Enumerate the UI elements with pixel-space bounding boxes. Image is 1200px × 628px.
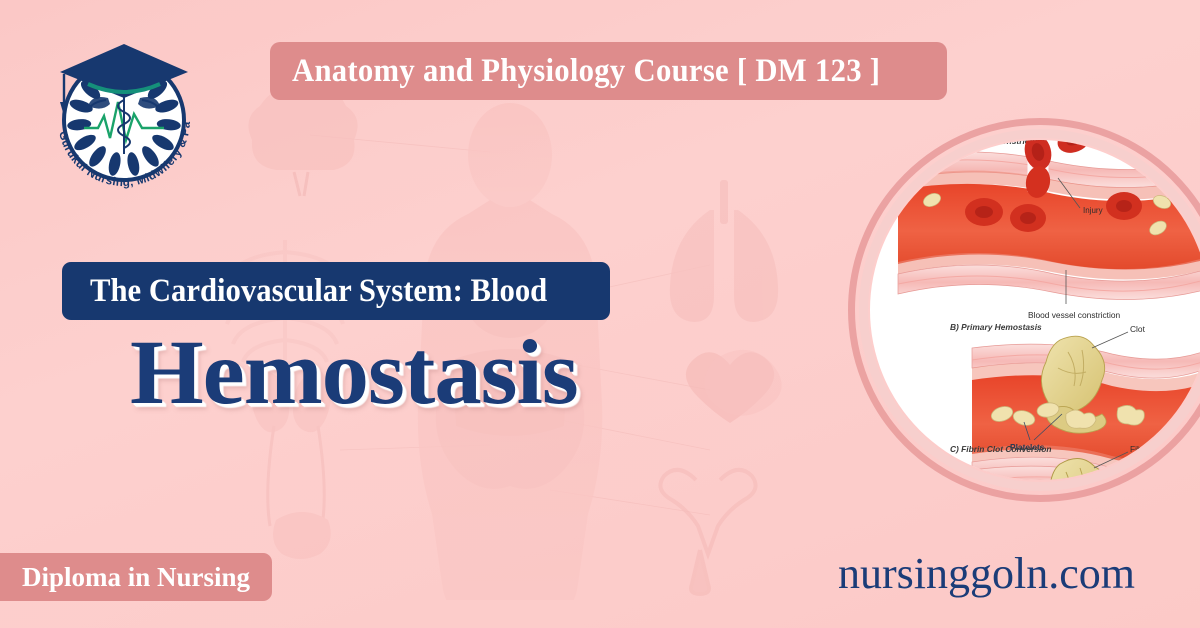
intestines-icon — [704, 350, 781, 416]
subtitle-banner-label: The Cardiovascular System: Blood — [90, 273, 547, 310]
course-banner-label: Anatomy and Physiology Course [ DM 123 ] — [292, 53, 880, 90]
illustration-disc: A) Vasoconstriction — [870, 140, 1200, 480]
website-url[interactable]: nursinggoln.com — [838, 548, 1135, 599]
uterus-icon — [660, 470, 755, 594]
svg-text:Fibrin: Fibrin — [1130, 444, 1151, 454]
svg-text:Clot: Clot — [1130, 324, 1146, 334]
hemostasis-illustration: A) Vasoconstriction — [848, 118, 1200, 502]
svg-text:C) Fibrin Clot Conversion: C) Fibrin Clot Conversion — [950, 444, 1051, 454]
gurukul-nursing-logo[interactable]: Gurukul Nursing, Midwifery & Patient Car… — [38, 28, 210, 200]
promo-card: Gurukul Nursing, Midwifery & Patient Car… — [0, 0, 1200, 628]
svg-text:B) Primary Hemostasis: B) Primary Hemostasis — [950, 322, 1042, 332]
panel-b-primary-hemostasis: B) Primary Hemostasis — [950, 322, 1200, 480]
brain-icon — [248, 85, 357, 196]
course-banner: Anatomy and Physiology Course [ DM 123 ] — [270, 42, 947, 100]
diploma-banner-label: Diploma in Nursing — [22, 562, 250, 593]
page-title: Hemostasis — [130, 326, 578, 418]
panel-a-vasoconstriction: A) Vasoconstriction — [898, 140, 1200, 320]
diploma-banner: Diploma in Nursing — [0, 553, 272, 601]
heart-icon — [686, 352, 774, 423]
svg-text:Blood vessel constriction: Blood vessel constriction — [1028, 310, 1121, 320]
svg-text:Injury: Injury — [1083, 206, 1103, 215]
subtitle-banner: The Cardiovascular System: Blood — [62, 262, 610, 320]
lungs-icon — [670, 180, 778, 322]
